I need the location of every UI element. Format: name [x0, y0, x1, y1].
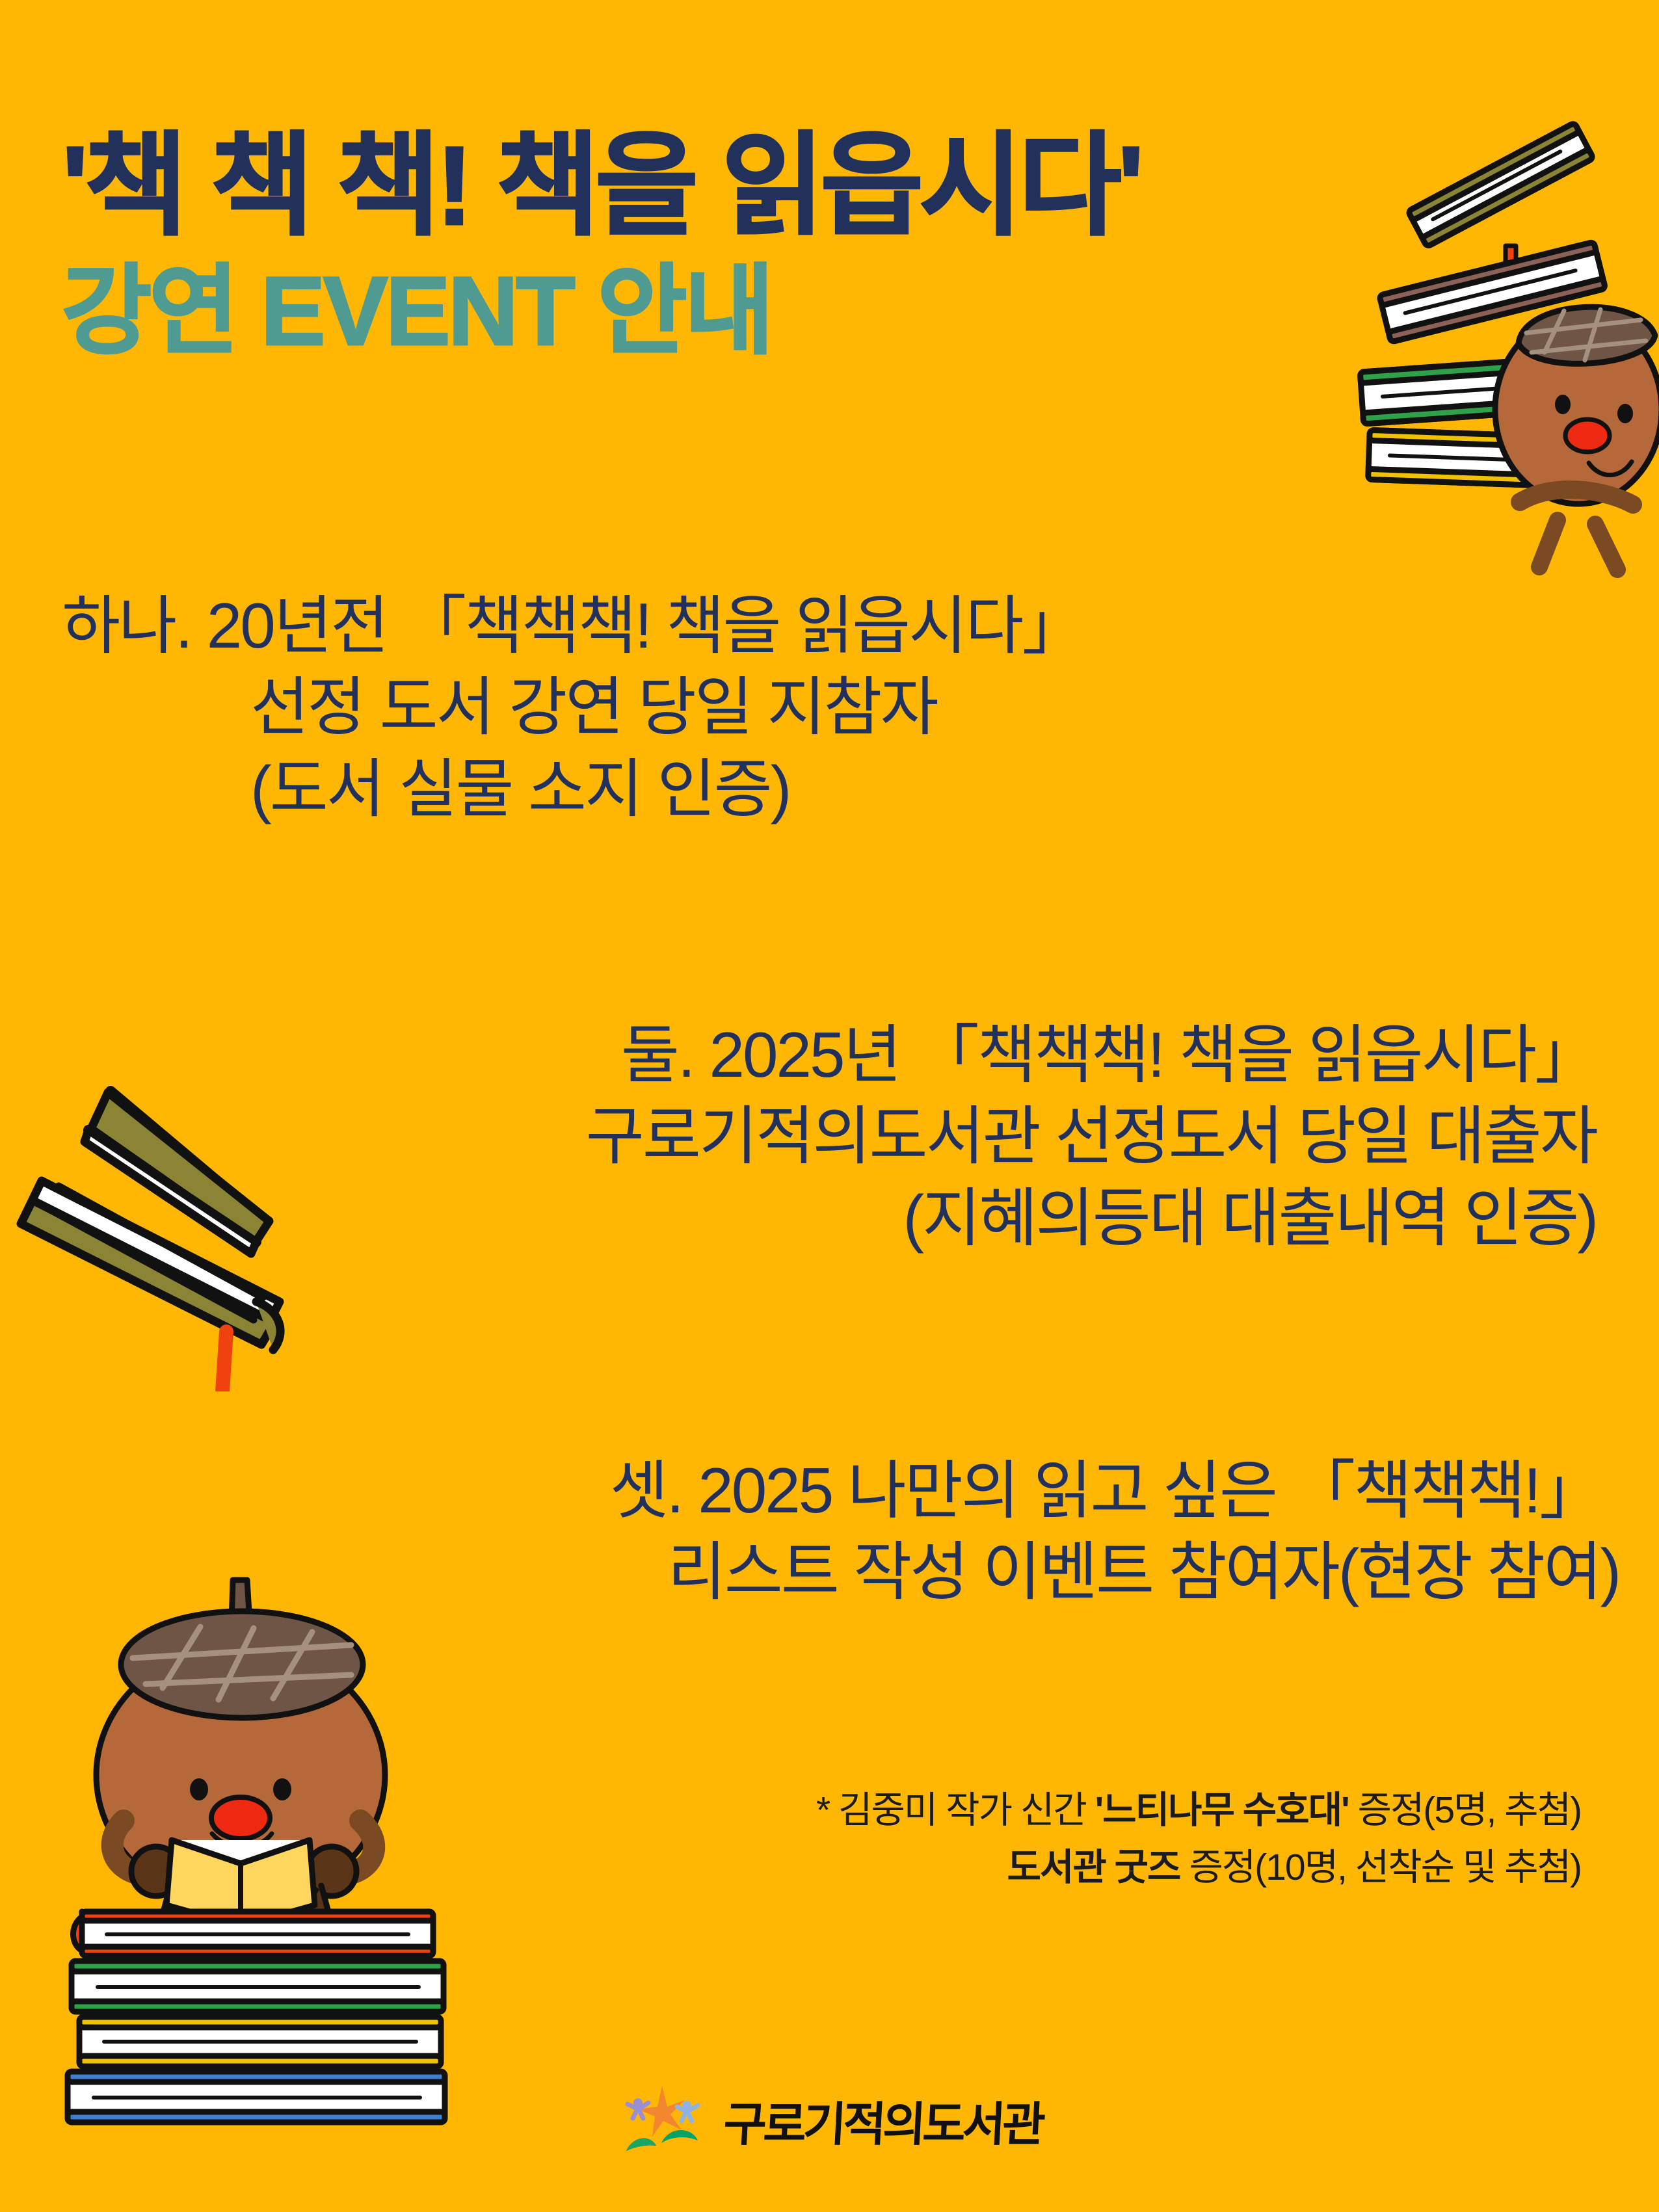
acorn-reading-on-books-illustration [26, 1560, 481, 2133]
poster-title: '책 책 책! 책을 읽읍시다' [62, 130, 1395, 242]
library-logo: 구로기적의도서관 [621, 2081, 1042, 2159]
poster-canvas: '책 책 책! 책을 읽읍시다' 강연 EVENT 안내 하나. 20년전 「책… [0, 0, 1659, 2212]
block-three-line-1: 셋. 2025 나만의 읽고 싶은 「책책책!」 [0, 1450, 1619, 1531]
open-book-illustration [0, 1047, 371, 1391]
gift-note-1: * 김중미 작가 신간 '느티나무 수호대' 증정(5명, 추첨) [816, 1782, 1581, 1839]
block-one-line-3: (도서 실물 소지 인증) [62, 748, 1083, 830]
sprout-people-logo-icon [621, 2081, 706, 2159]
gift-note-1-prefix: * 김중미 작가 신간 [816, 1789, 1095, 1831]
library-logo-text: 구로기적의도서관 [722, 2086, 1044, 2154]
gift-note-1-emphasis: '느티나무 수호대' [1095, 1789, 1349, 1831]
gift-note-2: 도서관 굿즈 증정(10명, 선착순 및 추첨) [816, 1839, 1581, 1896]
poster-subtitle: 강연 EVENT 안내 [62, 260, 1395, 363]
gift-note-1-suffix: 증정(5명, 추첨) [1349, 1789, 1581, 1831]
acorn-carrying-books-illustration [1284, 104, 1659, 585]
gift-note-2-emphasis: 도서관 굿즈 [1007, 1847, 1180, 1888]
block-one-line-2: 선정 도서 강연 당일 지참자 [62, 666, 1083, 748]
title-block: '책 책 책! 책을 읽읍시다' 강연 EVENT 안내 [62, 130, 1395, 363]
gift-notes: * 김중미 작가 신간 '느티나무 수호대' 증정(5명, 추첨) 도서관 굿즈… [816, 1782, 1581, 1897]
eligibility-block-one: 하나. 20년전 「책책책! 책을 읽읍시다」 선정 도서 강연 당일 지참자 … [62, 585, 1083, 830]
gift-note-2-suffix: 증정(10명, 선착순 및 추첨) [1180, 1847, 1581, 1888]
block-one-line-1: 하나. 20년전 「책책책! 책을 읽읍시다」 [62, 585, 1083, 666]
